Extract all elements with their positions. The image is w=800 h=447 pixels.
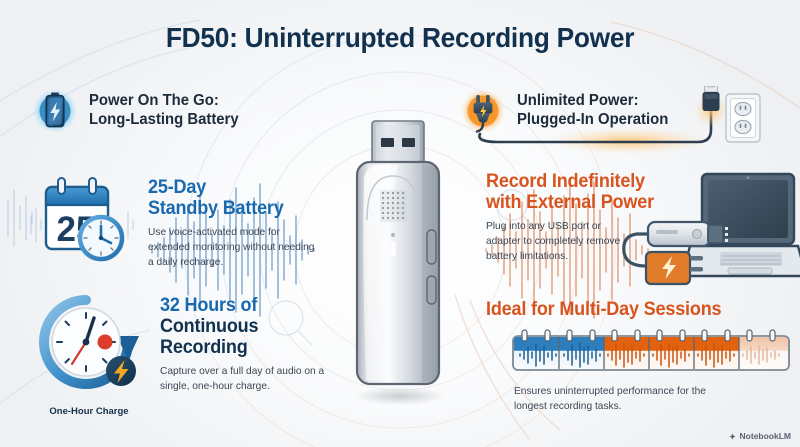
usb-voice-recorder-device (336, 118, 464, 408)
feature-32h-title-line1: 32 Hours of (160, 295, 257, 316)
feature-multi-day-sessions: Ideal for Multi-Day Sessions (486, 300, 800, 321)
battery-bolt-icon (30, 86, 80, 136)
feature-25-day-standby: 25 25-Day Standby Battery Use voi (28, 172, 328, 274)
clock-recharge-icon (28, 292, 150, 400)
calendar-clock-icon: 25 (28, 172, 136, 274)
left-header: Power On The Go: Long-Lasting Battery (30, 86, 245, 136)
power-adapter (646, 252, 703, 284)
laptop-usb-adapter-icon (602, 172, 800, 290)
watermark-label: NotebookLM (740, 431, 791, 441)
left-header-text: Power On The Go: Long-Lasting Battery (89, 92, 239, 130)
one-hour-charge-caption: One-Hour Charge (28, 406, 150, 417)
multi-day-timeline-icon (512, 329, 790, 373)
left-header-line2: Long-Lasting Battery (89, 111, 239, 130)
notebooklm-logo-icon (728, 432, 737, 441)
feature-32h-title-line3: Recording (160, 337, 248, 358)
feature-25day-body: Use voice-activated mode for extended mo… (148, 225, 315, 270)
feature-25day-title-line1: 25-Day (148, 177, 206, 198)
usb-stick (648, 222, 728, 246)
usb-connector (372, 121, 424, 165)
feature-32-hours-continuous: One-Hour Charge 32 Hours of Continuous R… (28, 292, 348, 417)
page-title: FD50: Uninterrupted Recording Power (24, 22, 776, 54)
feature-multiday-body: Ensures uninterrupted performance for th… (514, 384, 723, 414)
left-header-line1: Power On The Go: (89, 92, 219, 109)
side-button-lower (427, 276, 436, 304)
feature-32h-title-line2: Continuous (160, 316, 258, 337)
feature-25day-title-line2: Standby Battery (148, 198, 284, 219)
feature-32h-body: Capture over a full day of audio on a si… (160, 364, 333, 394)
feature-multiday-title: Ideal for Multi-Day Sessions (486, 299, 721, 320)
side-button-upper (427, 230, 436, 264)
usb-connector-icon (694, 86, 728, 127)
infographic-canvas: FD50: Uninterrupted Recording Power (0, 0, 800, 447)
speaker-grille (380, 190, 407, 222)
wall-outlet-icon (724, 92, 762, 144)
watermark: NotebookLM (728, 431, 791, 441)
